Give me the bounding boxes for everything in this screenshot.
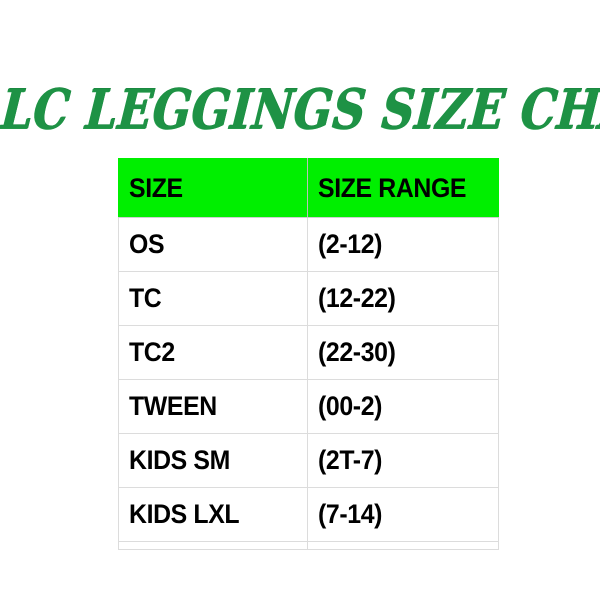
cell-size-range: (12-22) xyxy=(308,272,499,326)
table-row: OS (2-12) xyxy=(119,218,499,272)
cell-size-range: (2T-7) xyxy=(308,434,499,488)
table-row: TWEEN (00-2) xyxy=(119,380,499,434)
table-header-row: SIZE SIZE RANGE xyxy=(119,159,499,218)
cell-size: TC2 xyxy=(119,326,308,380)
cell-size-value: TC2 xyxy=(129,337,175,368)
cell-size-value: KIDS LXL xyxy=(129,499,239,530)
cell-size-value: KIDS SM xyxy=(129,445,230,476)
cell-size: TWEEN xyxy=(119,380,308,434)
page-title-container: GCLLC LEGGINGS SIZE CHART xyxy=(0,78,600,140)
table-row: KIDS SM (2T-7) xyxy=(119,434,499,488)
size-chart-table-container: SIZE SIZE RANGE OS (2-12) xyxy=(118,158,498,550)
cell-size-range: (22-30) xyxy=(308,326,499,380)
cell-size-range-value: (2T-7) xyxy=(318,445,382,476)
table-row-partial xyxy=(119,542,499,550)
table-header: SIZE SIZE RANGE xyxy=(119,159,499,218)
cell-size-range: (00-2) xyxy=(308,380,499,434)
cell-size-empty xyxy=(119,542,308,550)
column-header-size-range: SIZE RANGE xyxy=(308,159,499,218)
size-chart-page: GCLLC LEGGINGS SIZE CHART SIZE SIZE RANG… xyxy=(0,0,600,600)
column-header-size-label: SIZE xyxy=(129,173,183,204)
page-title: GCLLC LEGGINGS SIZE CHART xyxy=(0,82,600,137)
cell-size: KIDS LXL xyxy=(119,488,308,542)
cell-size-value: TWEEN xyxy=(129,391,217,422)
table-row: TC (12-22) xyxy=(119,272,499,326)
cell-size: KIDS SM xyxy=(119,434,308,488)
cell-size-range: (7-14) xyxy=(308,488,499,542)
table-row: KIDS LXL (7-14) xyxy=(119,488,499,542)
cell-size-range-value: (12-22) xyxy=(318,283,396,314)
cell-size: OS xyxy=(119,218,308,272)
table-row: TC2 (22-30) xyxy=(119,326,499,380)
table-body: OS (2-12) TC (12-22) TC2 xyxy=(119,218,499,550)
size-chart-table: SIZE SIZE RANGE OS (2-12) xyxy=(118,158,499,550)
cell-size-range-value: (7-14) xyxy=(318,499,382,530)
cell-size-range-value: (22-30) xyxy=(318,337,396,368)
cell-size-value: TC xyxy=(129,283,161,314)
cell-size-range-value: (00-2) xyxy=(318,391,382,422)
cell-size-range-value: (2-12) xyxy=(318,229,382,260)
cell-size: TC xyxy=(119,272,308,326)
cell-size-range: (2-12) xyxy=(308,218,499,272)
column-header-size: SIZE xyxy=(119,159,308,218)
column-header-size-range-label: SIZE RANGE xyxy=(318,173,466,204)
cell-size-range-empty xyxy=(308,542,499,550)
cell-size-value: OS xyxy=(129,229,164,260)
